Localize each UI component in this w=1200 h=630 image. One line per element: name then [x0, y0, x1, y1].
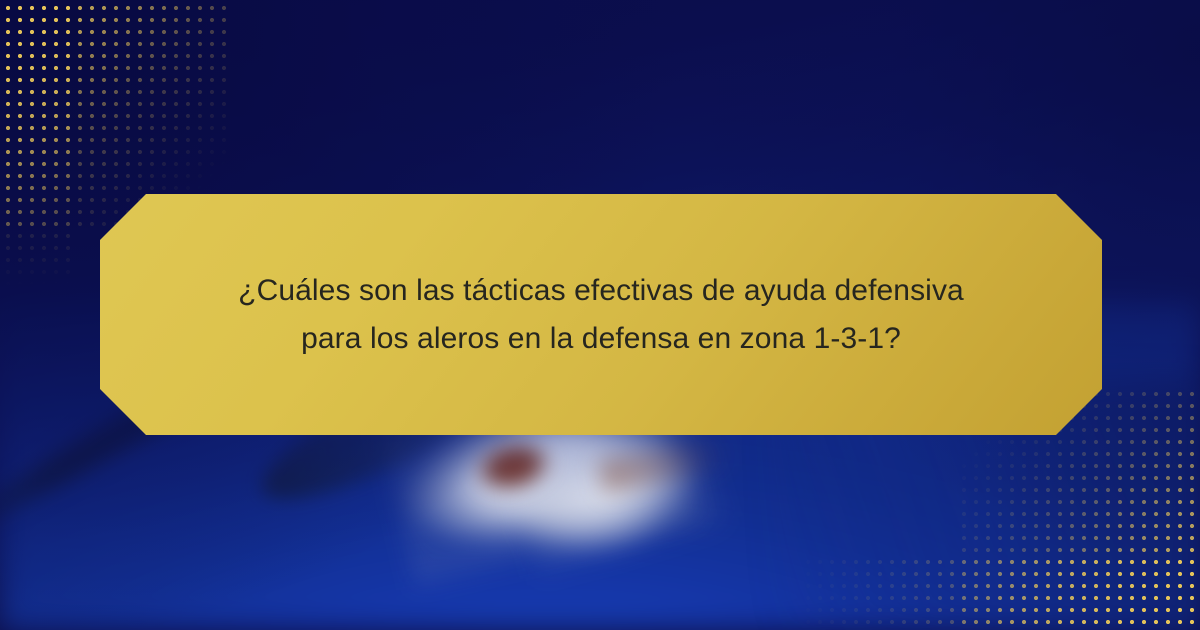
question-text: ¿Cuáles son las tácticas efectivas de ay… [171, 267, 1031, 363]
halftone-dots-bottom-row [780, 558, 1200, 630]
question-card: ¿Cuáles son las tácticas efectivas de ay… [100, 194, 1102, 435]
social-card-canvas: ¿Cuáles son las tácticas efectivas de ay… [0, 0, 1200, 630]
halftone-dots-left-column [0, 0, 72, 310]
